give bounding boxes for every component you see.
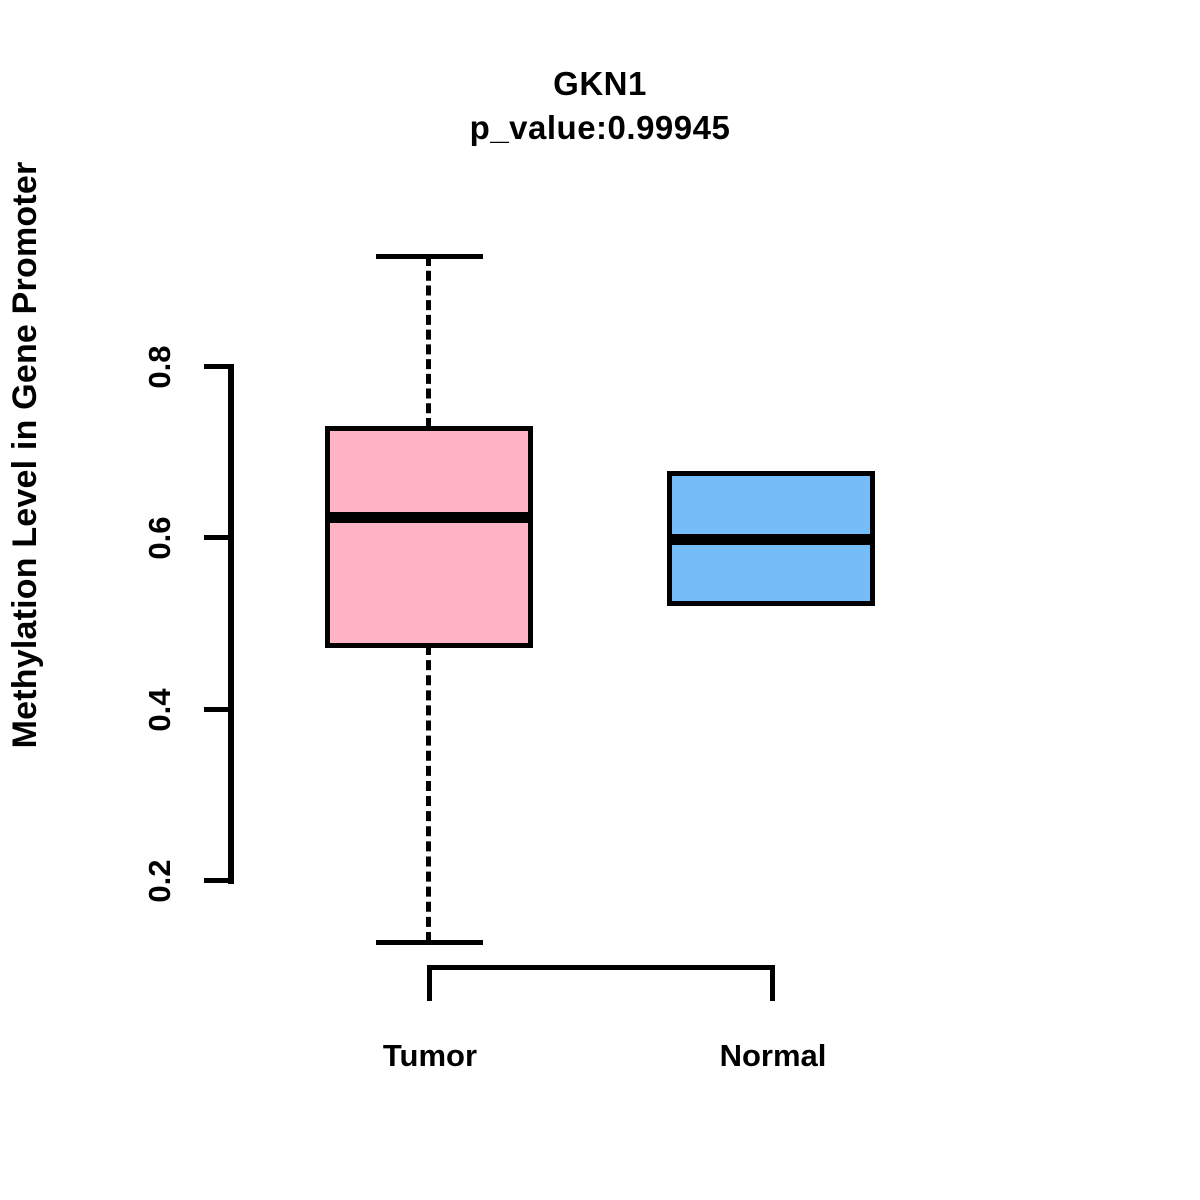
- x-tick-mark-normal: [770, 965, 775, 1001]
- normal-median-line: [667, 534, 875, 545]
- x-axis-line: [427, 965, 775, 970]
- y-tick-mark-0.2: [204, 878, 230, 883]
- tumor-box: [325, 426, 533, 648]
- y-tick-label-0.2: 0.2: [141, 851, 179, 911]
- y-axis-title: Methylation Level in Gene Promoter: [6, 0, 62, 1055]
- tumor-upper-whisker-cap: [376, 254, 483, 259]
- y-tick-label-0.8: 0.8: [141, 337, 179, 397]
- y-tick-label-0.4: 0.4: [141, 680, 179, 740]
- y-tick-mark-0.4: [204, 707, 230, 712]
- tumor-lower-whisker-cap: [376, 940, 483, 945]
- chart-subtitle: p_value:0.99945: [0, 106, 1200, 150]
- x-tick-label-tumor: Tumor: [310, 1036, 550, 1076]
- title-block: GKN1 p_value:0.99945: [0, 62, 1200, 150]
- chart-title: GKN1: [0, 62, 1200, 106]
- x-tick-label-normal: Normal: [653, 1036, 893, 1076]
- tumor-median-line: [325, 512, 533, 523]
- y-tick-mark-0.8: [204, 364, 230, 369]
- y-tick-label-0.6: 0.6: [141, 508, 179, 568]
- y-axis-line: [228, 364, 234, 884]
- boxplot-figure: GKN1 p_value:0.99945 Methylation Level i…: [0, 0, 1200, 1200]
- tumor-lower-whisker-line: [426, 645, 431, 942]
- tumor-upper-whisker-line: [426, 256, 431, 428]
- x-tick-mark-tumor: [427, 965, 432, 1001]
- y-tick-mark-0.6: [204, 535, 230, 540]
